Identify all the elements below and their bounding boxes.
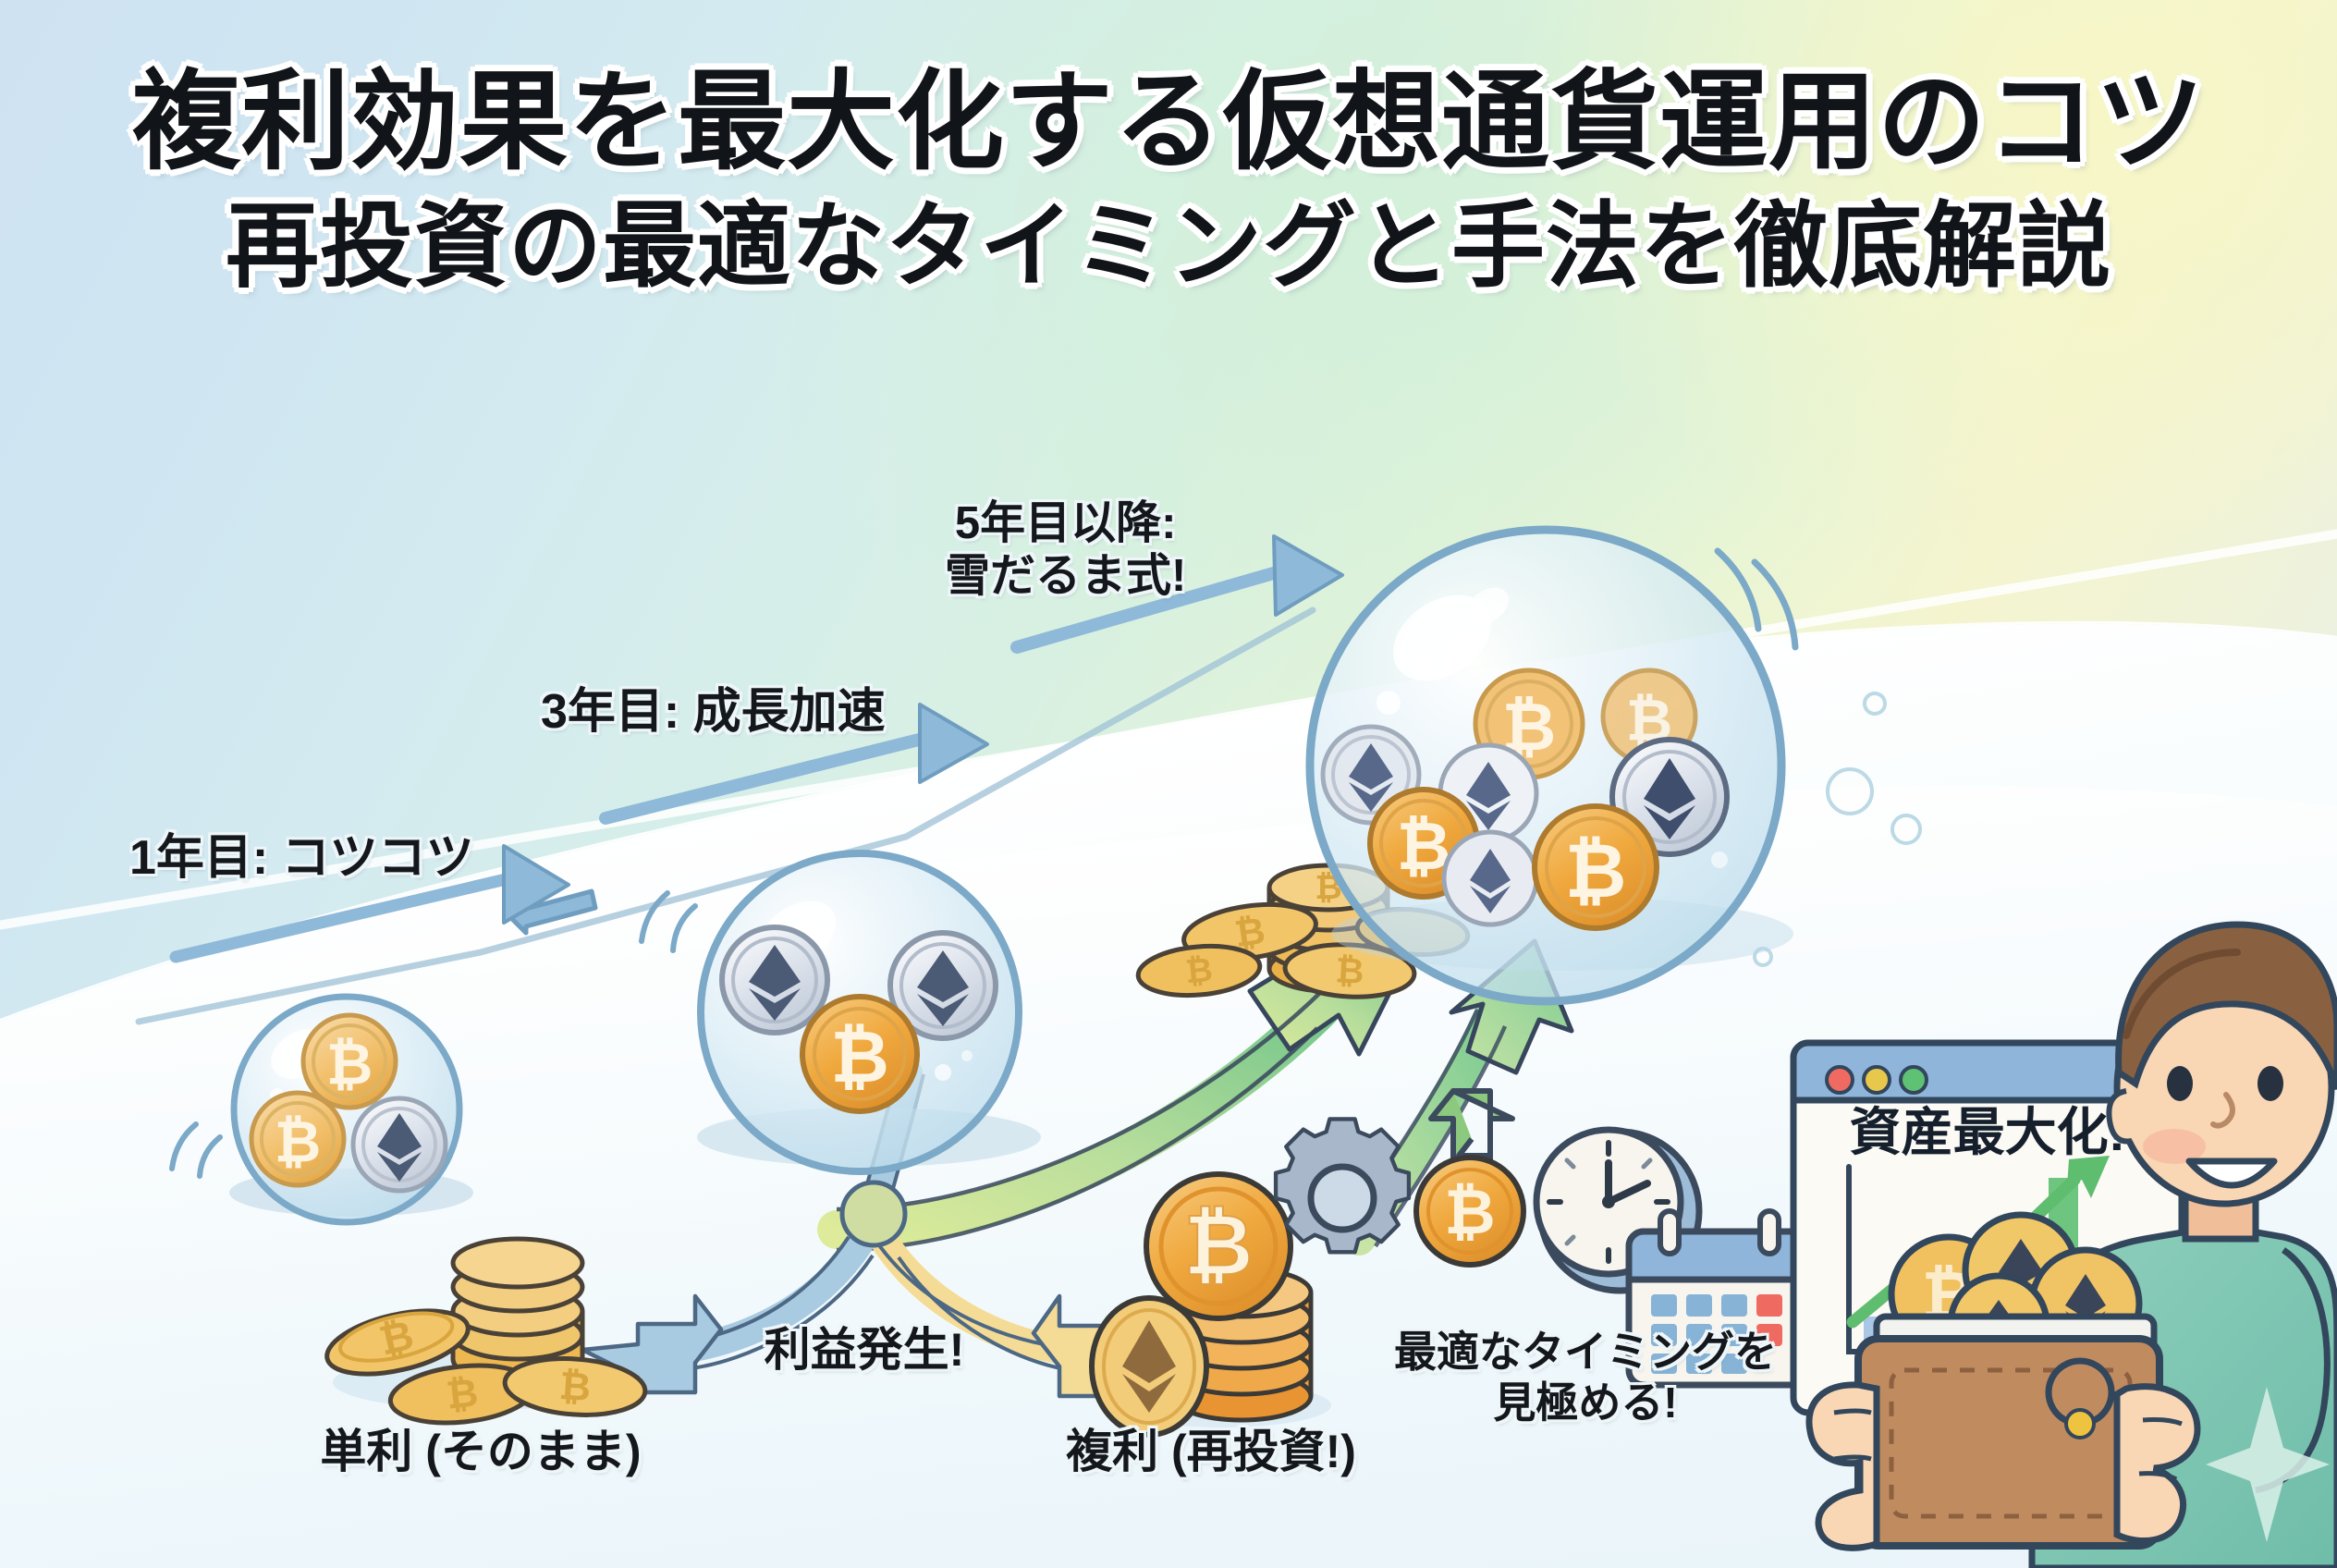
timing-label-line1: 最適なタイミングを bbox=[1368, 1327, 1803, 1378]
timing-label: 最適なタイミングを 見極める! bbox=[1368, 1327, 1803, 1428]
timeline-label-year5-line2: 雪だるま式! bbox=[945, 550, 1186, 603]
browser-dot-yellow bbox=[1864, 1067, 1890, 1093]
timing-label-line2: 見極める! bbox=[1368, 1378, 1803, 1428]
timeline-label-year5: 5年目以降: 雪だるま式! bbox=[945, 497, 1186, 603]
eye-left bbox=[2167, 1066, 2193, 1101]
timeline-label-year3: 3年目: 成長加速 bbox=[541, 684, 886, 740]
branch-label-profit: 利益発生! bbox=[703, 1322, 1026, 1378]
browser-dot-red bbox=[1827, 1067, 1853, 1093]
title-line-2: 再投資の最適なタイミングと手法を徹底解説 bbox=[0, 198, 2337, 297]
branch-label-simple: 単利 (そのまま) bbox=[277, 1424, 684, 1479]
title-line-1: 複利効果を最大化する仮想通貨運用のコツ bbox=[0, 65, 2337, 179]
title-block: 複利効果を最大化する仮想通貨運用のコツ 再投資の最適なタイミングと手法を徹底解説 bbox=[0, 65, 2337, 297]
eye-right bbox=[2257, 1066, 2283, 1101]
infographic-canvas: ₿ ₿ ₿ bbox=[0, 0, 2337, 1568]
browser-headline: 資産最大化! bbox=[1850, 1103, 2126, 1161]
browser-dot-green bbox=[1901, 1067, 1927, 1093]
timeline-label-year1: 1年目: コツコツ bbox=[129, 830, 474, 886]
branch-label-compound: 複利 (再投資!) bbox=[998, 1424, 1424, 1479]
timeline-label-year5-line1: 5年目以降: bbox=[945, 497, 1186, 550]
